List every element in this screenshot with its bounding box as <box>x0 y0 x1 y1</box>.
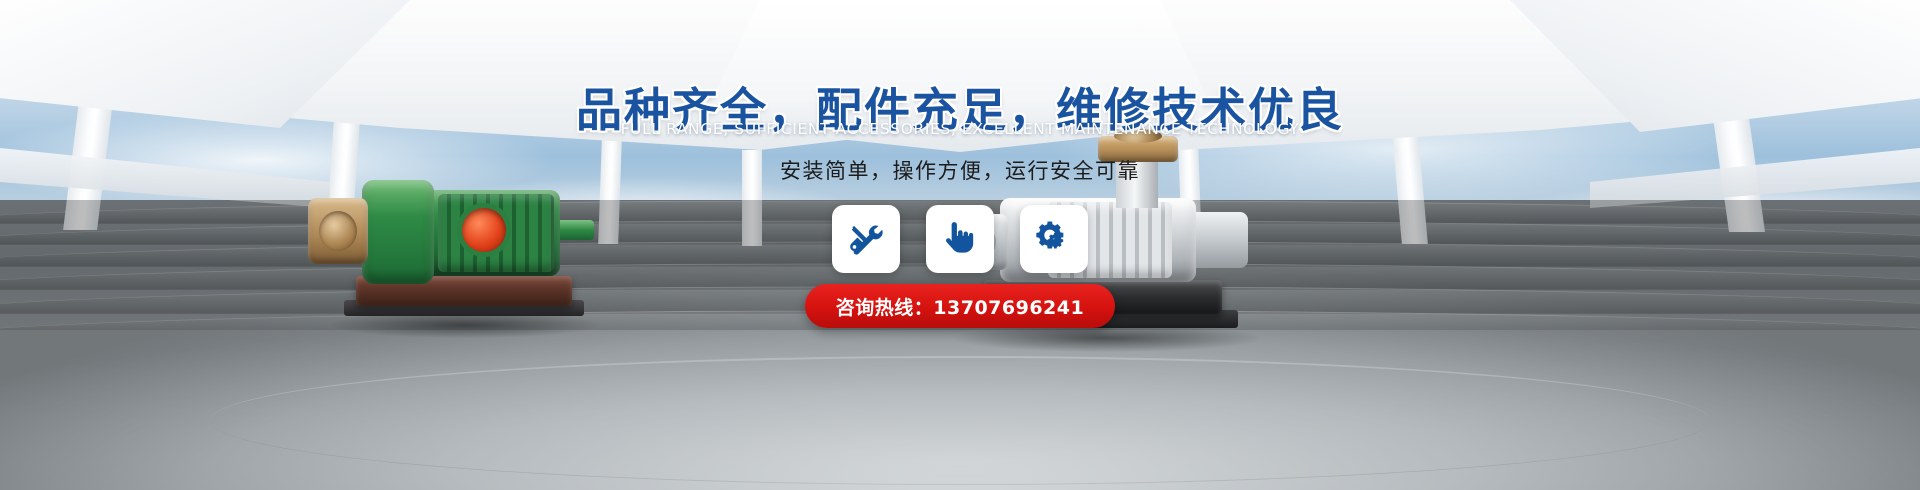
banner-subtitle-chinese: 安装简单，操作方便，运行安全可靠 <box>0 155 1920 185</box>
feature-icon-row <box>0 205 1920 273</box>
feature-icon-box-1[interactable] <box>832 205 900 273</box>
hand-pointer-icon <box>941 220 979 258</box>
gears-icon <box>1035 220 1073 258</box>
feature-icon-box-3[interactable] <box>1020 205 1088 273</box>
wrench-screwdriver-icon <box>847 220 885 258</box>
banner-content: 品种齐全，配件充足，维修技术优良 FULL RANGE, SUFFICIENT … <box>0 0 1920 490</box>
hotline-text: 咨询热线：13707696241 <box>836 293 1084 320</box>
hotline-button[interactable]: 咨询热线：13707696241 <box>805 284 1115 328</box>
banner-subtitle-english: FULL RANGE, SUFFICIENT ACCESSORIES, EXCE… <box>0 120 1920 138</box>
feature-icon-box-2[interactable] <box>926 205 994 273</box>
promo-banner: 品种齐全，配件充足，维修技术优良 FULL RANGE, SUFFICIENT … <box>0 0 1920 490</box>
